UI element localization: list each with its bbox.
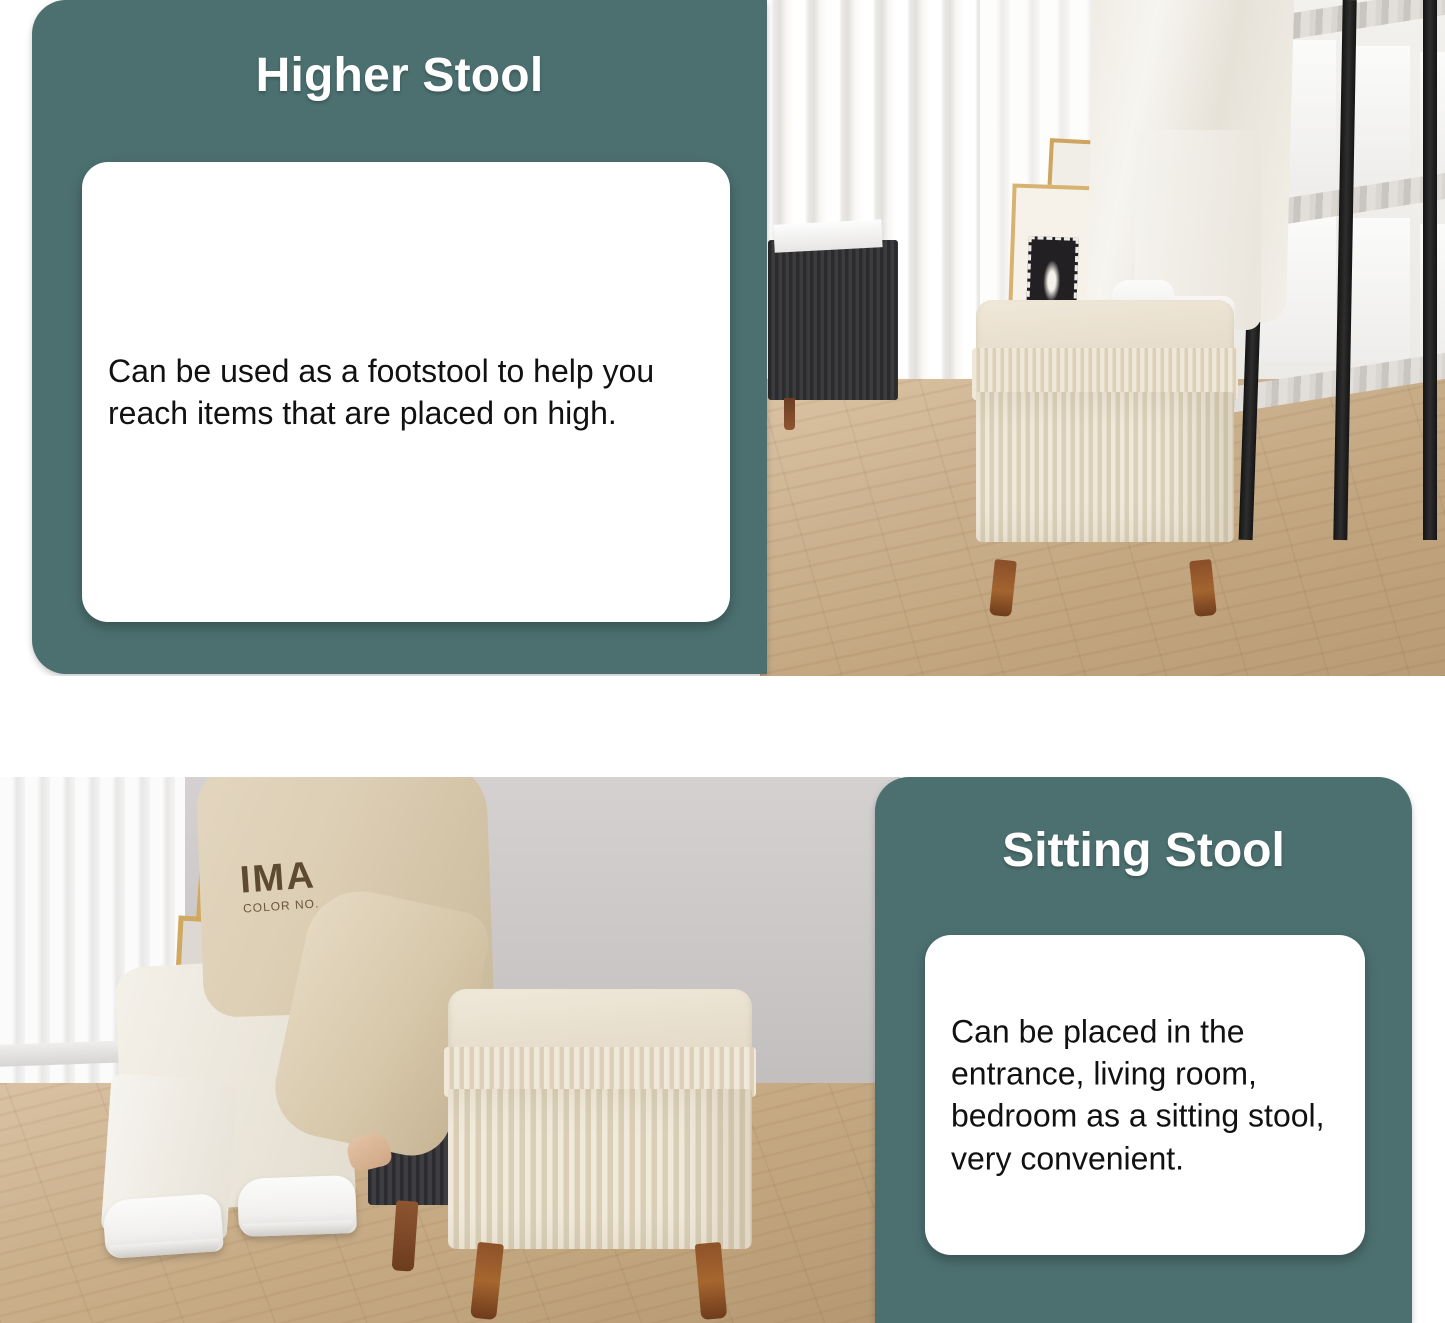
shelf-bay [1350,46,1410,186]
photo-cream-corduroy-stool [970,300,1240,570]
feature-text-card-higher-stool: Can be used as a footstool to help you r… [82,162,730,622]
photo-cream-corduroy-stool [440,989,760,1289]
product-feature-infographic: Higher Stool Can be used as a footstool … [0,0,1445,1323]
feature-title-sitting-stool: Sitting Stool [875,823,1412,878]
photo-stacked-papers [773,219,882,253]
photo-hoodie-logo-primary: IMA [239,854,317,902]
stool-body [976,392,1234,542]
lifestyle-photo-sitting-stool: IMA COLOR NO. [0,777,900,1323]
photo-white-sneaker [237,1175,357,1237]
shelf-bay [1350,218,1410,362]
feature-description-higher-stool: Can be used as a footstool to help you r… [108,350,710,434]
feature-panel-sitting-stool: Sitting Stool Can be placed in the entra… [875,777,1412,1323]
feature-title-higher-stool: Higher Stool [32,48,767,103]
photo-black-storage-ottoman [768,240,898,400]
stool-body [448,1089,752,1249]
feature-panel-higher-stool: Higher Stool Can be used as a footstool … [32,0,767,674]
photo-white-sneaker [102,1193,224,1259]
section-higher-stool: Higher Stool Can be used as a footstool … [0,0,1445,676]
stool-wooden-leg [695,1242,728,1320]
lifestyle-photo-higher-stool [760,0,1445,676]
stool-wooden-leg [1189,559,1217,617]
shelf-post [1423,0,1437,540]
feature-description-sitting-stool: Can be placed in the entrance, living ro… [951,1011,1347,1180]
section-sitting-stool: IMA COLOR NO. Sitting Stool Can be place… [0,777,1445,1323]
feature-text-card-sitting-stool: Can be placed in the entrance, living ro… [925,935,1365,1255]
